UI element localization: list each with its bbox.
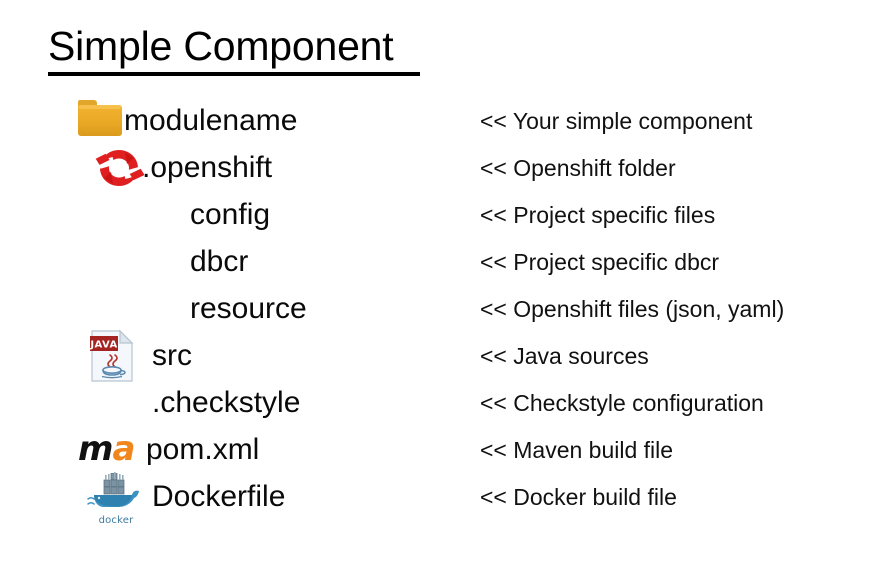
- tree-item-description: << Project specific files: [480, 198, 715, 232]
- tree-item-label: pom.xml: [146, 429, 259, 471]
- tree-item-label: config: [190, 194, 270, 236]
- tree-item-label: resource: [190, 288, 307, 330]
- slide-canvas: Simple Component modulename << Your simp…: [0, 0, 889, 564]
- java-file-icon: JAVA: [88, 329, 136, 383]
- row-icon-slot: docker: [0, 474, 889, 521]
- tree-item-description: << Your simple component: [480, 104, 752, 138]
- tree-row: docker Dockerfile << Docker build file: [0, 474, 889, 521]
- tree-row: JAVA src << Java so: [0, 333, 889, 380]
- tree-row: dbcr << Project specific dbcr: [0, 239, 889, 286]
- tree-item-description: << Java sources: [480, 339, 649, 373]
- tree-item-description: << Project specific dbcr: [480, 245, 719, 279]
- tree-item-description: << Docker build file: [480, 480, 677, 514]
- tree-item-label: Dockerfile: [152, 476, 285, 518]
- tree-row: .checkstyle << Checkstyle configuration: [0, 380, 889, 427]
- page-title: Simple Component: [48, 22, 648, 70]
- tree-item-description: << Openshift files (json, yaml): [480, 292, 784, 326]
- row-icon-slot: JAVA: [0, 333, 889, 380]
- tree-item-label: modulename: [124, 100, 297, 142]
- tree-item-label: dbcr: [190, 241, 248, 283]
- tree-item-description: << Openshift folder: [480, 151, 676, 185]
- tree-row: config << Project specific files: [0, 192, 889, 239]
- tree-item-description: << Maven build file: [480, 433, 673, 467]
- tree-item-description: << Checkstyle configuration: [480, 386, 764, 420]
- row-icon-slot: ma: [0, 427, 889, 474]
- maven-icon: ma: [78, 430, 146, 468]
- title-underline: [48, 72, 420, 76]
- tree-row: ma pom.xml << Maven build file: [0, 427, 889, 474]
- tree-row: resource << Openshift files (json, yaml): [0, 286, 889, 333]
- row-icon-slot: [0, 145, 889, 192]
- maven-m-letter: m: [78, 429, 112, 469]
- page-title-block: Simple Component: [48, 22, 648, 76]
- docker-wordmark: docker: [86, 515, 146, 526]
- tree-item-label: .openshift: [142, 147, 272, 189]
- maven-a-letter: a: [112, 429, 134, 469]
- tree-row: .openshift << Openshift folder: [0, 145, 889, 192]
- svg-text:JAVA: JAVA: [89, 340, 117, 351]
- tree-item-label: src: [152, 335, 192, 377]
- openshift-icon: [94, 146, 144, 190]
- tree-row: modulename << Your simple component: [0, 98, 889, 145]
- folder-icon: [78, 100, 122, 136]
- tree-item-label: .checkstyle: [152, 382, 300, 424]
- project-tree: modulename << Your simple component: [0, 98, 889, 521]
- docker-icon: docker: [86, 471, 146, 525]
